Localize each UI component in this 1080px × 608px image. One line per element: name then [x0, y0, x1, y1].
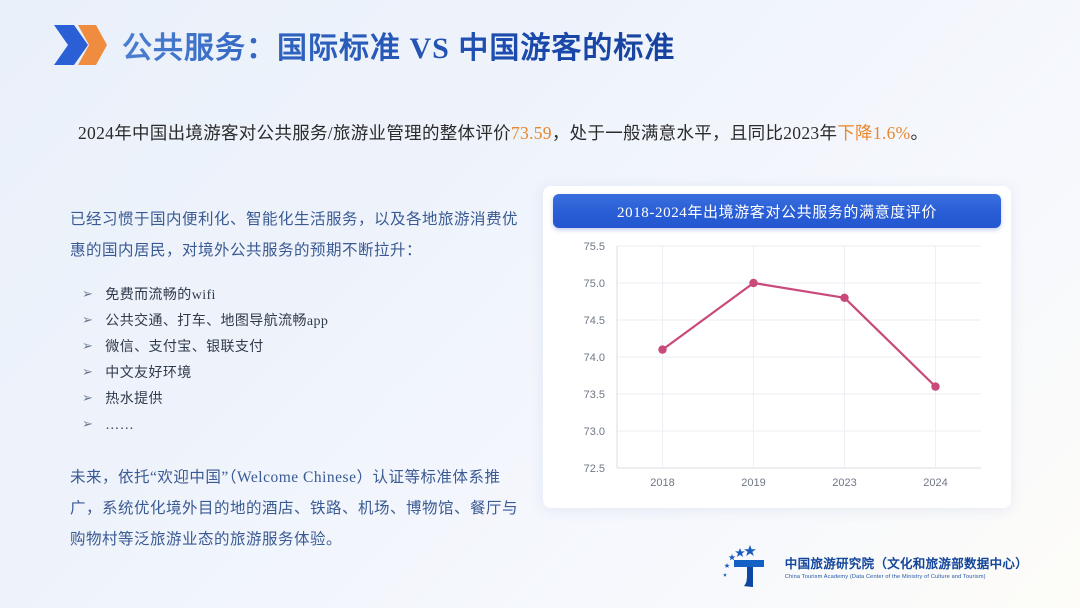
chart-plot-area: 72.573.073.574.074.575.075.5201820192023… — [543, 234, 1011, 502]
y-axis-tick-label: 75.0 — [584, 278, 605, 290]
lead-score-highlight: 73.59 — [511, 123, 552, 143]
left-content-column: 已经习惯于国内便利化、智能化生活服务，以及各地旅游消费优惠的国内居民，对境外公共… — [70, 188, 530, 570]
list-item-label: 热水提供 — [105, 387, 163, 412]
list-item: ➢ 中文友好环境 — [70, 360, 530, 386]
y-axis-tick-label: 75.5 — [584, 241, 605, 253]
intro-paragraph: 已经习惯于国内便利化、智能化生活服务，以及各地旅游消费优惠的国内居民，对境外公共… — [70, 204, 530, 266]
logo-english-name: China Tourism Academy (Data Center of th… — [785, 574, 1028, 580]
y-axis-tick-label: 72.5 — [584, 463, 605, 475]
academy-emblem-icon — [720, 543, 776, 594]
list-item-label: 中文友好环境 — [105, 361, 191, 386]
list-item: ➢ 免费而流畅的wifi — [70, 282, 530, 308]
chart-title-bar: 2018-2024年出境游客对公共服务的满意度评价 — [553, 194, 1001, 228]
outro-paragraph: 未来，依托“欢迎中国”（Welcome Chinese）认证等标准体系推广，系统… — [70, 462, 530, 555]
list-item: ➢ …… — [70, 412, 530, 438]
logo-text-block: 中国旅游研究院（文化和旅游部数据中心） China Tourism Academ… — [785, 557, 1028, 581]
x-axis-tick-label: 2024 — [923, 477, 947, 489]
arrow-bullet-icon: ➢ — [82, 307, 93, 332]
list-item-label: 免费而流畅的wifi — [105, 283, 216, 308]
x-axis-tick-label: 2023 — [832, 477, 856, 489]
y-axis-tick-label: 73.5 — [584, 389, 605, 401]
logo-chinese-name: 中国旅游研究院（文化和旅游部数据中心） — [785, 557, 1028, 571]
arrow-bullet-icon: ➢ — [82, 411, 93, 436]
data-point-marker[interactable] — [931, 382, 939, 390]
china-tourism-academy-logo: 中国旅游研究院（文化和旅游部数据中心） China Tourism Academ… — [720, 543, 1028, 594]
double-chevron-icon — [52, 22, 108, 68]
x-axis-tick-label: 2018 — [650, 477, 674, 489]
page-title: 公共服务：国际标准 VS 中国游客的标准 — [122, 23, 675, 67]
data-point-marker[interactable] — [749, 279, 757, 287]
arrow-bullet-icon: ➢ — [82, 385, 93, 410]
lead-text-part2: ，处于一般满意水平，且同比2023年 — [552, 123, 837, 143]
lead-paragraph: 2024年中国出境游客对公共服务/旅游业管理的整体评价73.59，处于一般满意水… — [78, 120, 1008, 145]
y-axis-tick-label: 74.5 — [584, 315, 605, 327]
page-header: 公共服务：国际标准 VS 中国游客的标准 — [52, 22, 675, 68]
list-item: ➢ 公共交通、打车、地图导航流畅app — [70, 308, 530, 334]
lead-change-highlight: 下降1.6% — [837, 123, 910, 143]
lead-text-part3: 。 — [911, 123, 929, 143]
series-line — [663, 283, 936, 387]
lead-text-part1: 2024年中国出境游客对公共服务/旅游业管理的整体评价 — [78, 123, 511, 143]
y-axis-tick-label: 74.0 — [584, 352, 605, 364]
list-item: ➢ 微信、支付宝、银联支付 — [70, 334, 530, 360]
arrow-bullet-icon: ➢ — [82, 359, 93, 384]
chart-title: 2018-2024年出境游客对公共服务的满意度评价 — [617, 201, 937, 222]
data-point-marker[interactable] — [840, 294, 848, 302]
chart-card: 2018-2024年出境游客对公共服务的满意度评价 72.573.073.574… — [543, 186, 1011, 508]
expectation-bullet-list: ➢ 免费而流畅的wifi ➢ 公共交通、打车、地图导航流畅app ➢ 微信、支付… — [70, 282, 530, 438]
y-axis-tick-label: 73.0 — [584, 426, 605, 438]
arrow-bullet-icon: ➢ — [82, 333, 93, 358]
list-item-label: 微信、支付宝、银联支付 — [105, 335, 263, 360]
list-item: ➢ 热水提供 — [70, 386, 530, 412]
x-axis-tick-label: 2019 — [741, 477, 765, 489]
list-item-label: …… — [105, 413, 134, 438]
arrow-bullet-icon: ➢ — [82, 281, 93, 306]
data-point-marker[interactable] — [658, 345, 666, 353]
list-item-label: 公共交通、打车、地图导航流畅app — [105, 309, 328, 334]
